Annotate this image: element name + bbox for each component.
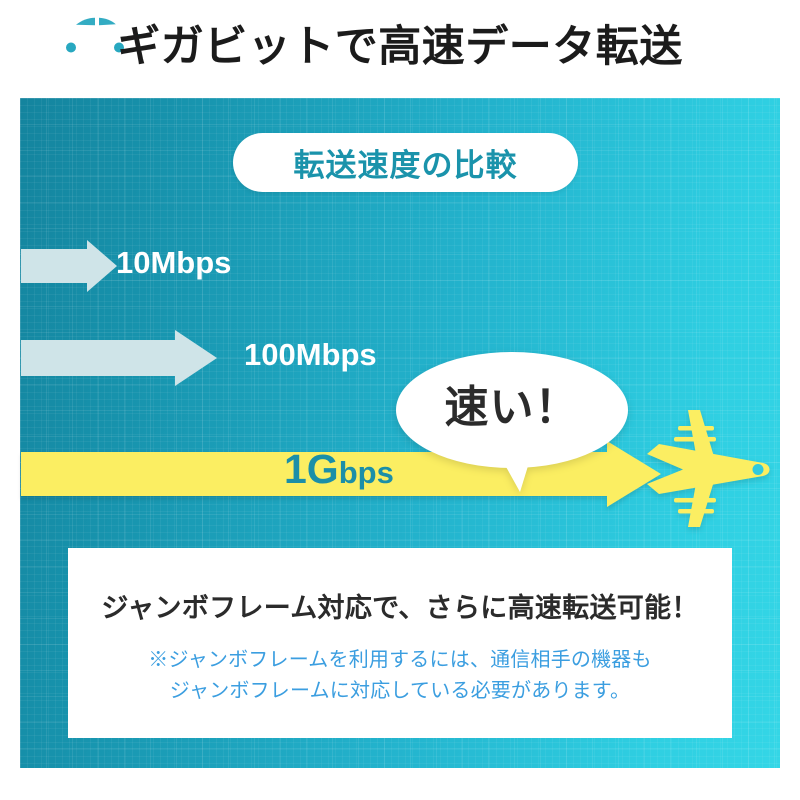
section-badge-label: 転送速度の比較 (294, 140, 518, 185)
info-card-note: ※ジャンボフレームを利用するには、通信相手の機器も ジャンボフレームに対応してい… (68, 645, 732, 707)
speed-label-100mbps: 100Mbps (244, 339, 377, 370)
speed-arrow-10mbps (21, 240, 117, 292)
speed-label-1gbps-secondary: bps (339, 455, 394, 490)
airplane-icon (645, 408, 770, 530)
info-card-note-line-2: ジャンボフレームに対応している必要があります。 (68, 676, 732, 707)
speech-bubble-text: 速い！ (396, 371, 628, 435)
info-card-note-line-1: ※ジャンボフレームを利用するには、通信相手の機器も (68, 645, 732, 676)
info-card: ジャンボフレーム対応で、さらに高速転送可能！ ※ジャンボフレームを利用するには、… (68, 548, 732, 738)
speed-label-1gbps-primary: 1G (284, 446, 339, 492)
speed-label-1gbps: 1Gbps (284, 449, 394, 490)
info-card-headline: ジャンボフレーム対応で、さらに高速転送可能！ (68, 586, 732, 625)
infographic-canvas: ギガビットで高速データ転送 転送速度の比較 10Mbps 100Mbps 1Gb… (0, 0, 800, 800)
speed-arrow-100mbps (21, 330, 217, 386)
page-title: ギガビットで高速データ転送 (0, 24, 800, 71)
speed-label-10mbps: 10Mbps (116, 247, 231, 278)
section-badge: 転送速度の比較 (233, 133, 578, 192)
